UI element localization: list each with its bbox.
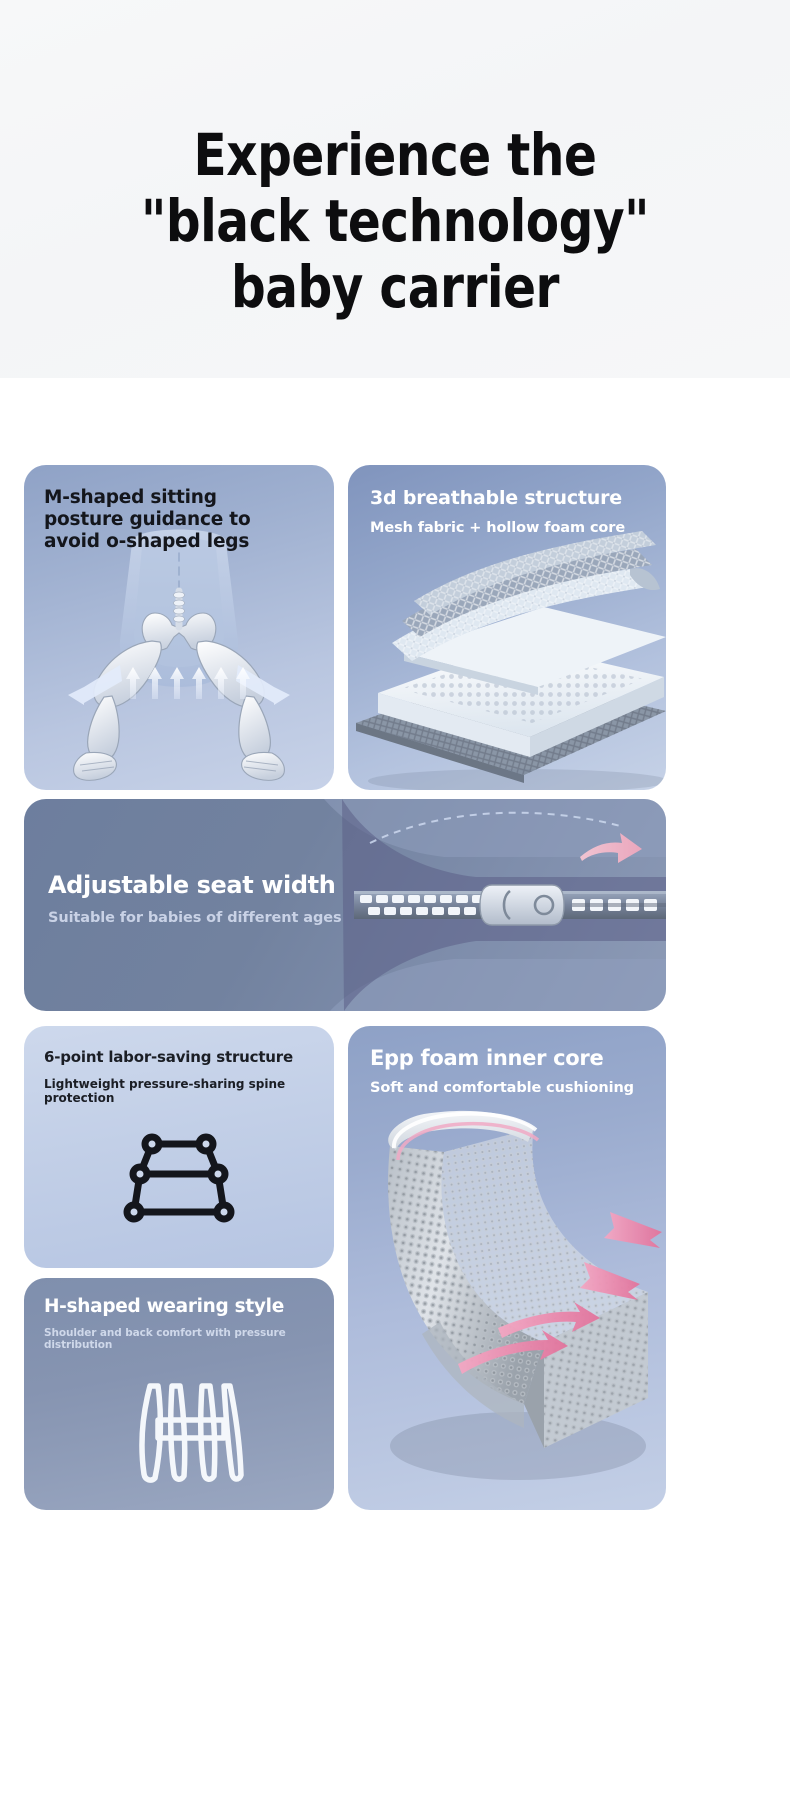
card-adjustable-seat-width[interactable]: Adjustable seat width Suitable for babie… [24, 799, 666, 1011]
card-epp-foam-text: Epp foam inner core Soft and comfortable… [370, 1046, 660, 1096]
card-m-shaped-heading-line-2: posture guidance to [44, 509, 319, 531]
card-3d-breathable-subtitle: Mesh fabric + hollow foam core [370, 519, 660, 537]
card-m-shaped-sitting[interactable]: M-shaped sitting posture guidance to avo… [24, 465, 334, 790]
card-adjustable-seat-heading: Adjustable seat width [48, 871, 448, 899]
card-h-shaped-subtitle: Shoulder and back comfort with pressure … [44, 1327, 324, 1351]
card-epp-foam-subtitle: Soft and comfortable cushioning [370, 1080, 660, 1096]
card-3d-breathable-structure[interactable]: 3d breathable structure Mesh fabric + ho… [348, 465, 666, 790]
card-3d-breathable-text: 3d breathable structure Mesh fabric + ho… [370, 487, 660, 537]
card-six-point-text: 6-point labor-saving structure Lightweig… [44, 1048, 324, 1105]
card-h-shaped-wearing-style[interactable]: H-shaped wearing style Shoulder and back… [24, 1278, 334, 1510]
card-m-shaped-text: M-shaped sitting posture guidance to avo… [44, 487, 319, 553]
card-m-shaped-heading: M-shaped sitting posture guidance to avo… [44, 487, 319, 553]
card-h-shaped-text: H-shaped wearing style Shoulder and back… [44, 1296, 324, 1351]
card-six-point-subtitle: Lightweight pressure-sharing spine prote… [44, 1077, 324, 1105]
card-epp-foam-inner-core[interactable]: Epp foam inner core Soft and comfortable… [348, 1026, 666, 1510]
card-m-shaped-heading-line-1: M-shaped sitting [44, 487, 319, 509]
infographic-page: Experience the "black technology" baby c… [0, 0, 790, 1804]
feature-card-grid: M-shaped sitting posture guidance to avo… [0, 0, 790, 1804]
card-six-point-subtitle-line-1: Lightweight pressure-sharing spine [44, 1077, 285, 1091]
card-six-point-structure[interactable]: 6-point labor-saving structure Lightweig… [24, 1026, 334, 1268]
card-epp-foam-heading: Epp foam inner core [370, 1046, 660, 1070]
card-six-point-subtitle-line-2: protection [44, 1091, 114, 1105]
card-h-shaped-heading: H-shaped wearing style [44, 1296, 324, 1317]
card-m-shaped-heading-line-3: avoid o-shaped legs [44, 531, 319, 553]
card-adjustable-seat-text: Adjustable seat width Suitable for babie… [48, 871, 448, 926]
curved-epp-foam-photo-icon [348, 1026, 666, 1510]
card-adjustable-seat-subtitle: Suitable for babies of different ages [48, 910, 448, 926]
card-six-point-heading: 6-point labor-saving structure [44, 1048, 324, 1066]
card-3d-breathable-heading: 3d breathable structure [370, 487, 660, 510]
